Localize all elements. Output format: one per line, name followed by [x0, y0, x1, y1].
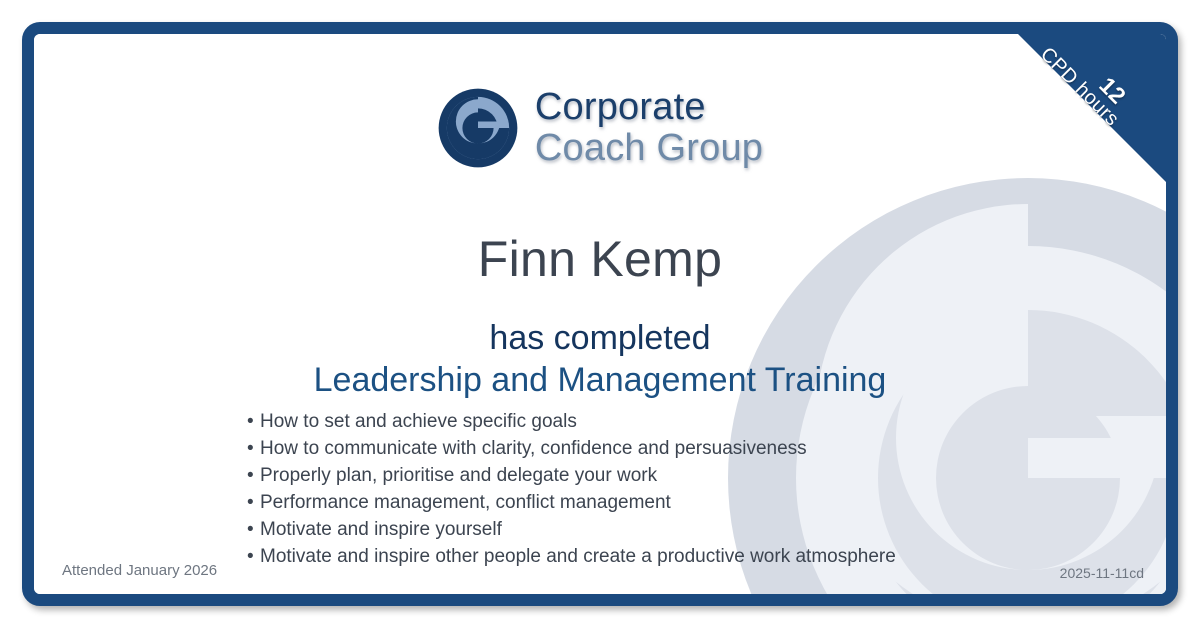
- recipient-name: Finn Kemp: [34, 230, 1166, 288]
- list-item-label: How to set and achieve specific goals: [260, 411, 577, 432]
- attendance-date: Attended January 2026: [62, 562, 217, 579]
- bullet-icon: •: [247, 435, 260, 462]
- list-item-label: Performance management, conflict managem…: [260, 492, 671, 513]
- brand-logo: Corporate Coach Group: [34, 87, 1166, 169]
- list-item: •Motivate and inspire yourself: [247, 516, 896, 543]
- bullet-icon: •: [247, 543, 260, 570]
- bullet-icon: •: [247, 489, 260, 516]
- corporate-coach-group-logo-icon: [437, 87, 519, 169]
- list-item: •Performance management, conflict manage…: [247, 489, 896, 516]
- brand-name-line-1: Corporate: [535, 89, 763, 126]
- certificate-body: 12 CPD hours Corporate Coach Group: [34, 34, 1166, 594]
- list-item-label: Motivate and inspire yourself: [260, 519, 502, 540]
- list-item: •Properly plan, prioritise and delegate …: [247, 462, 896, 489]
- list-item: •How to set and achieve specific goals: [247, 408, 896, 435]
- certificate-card: 12 CPD hours Corporate Coach Group: [22, 22, 1178, 606]
- certificate-reference: 2025-11-11cd: [1060, 565, 1144, 581]
- bullet-icon: •: [247, 516, 260, 543]
- list-item: •How to communicate with clarity, confid…: [247, 435, 896, 462]
- course-title: Leadership and Management Training: [34, 361, 1166, 400]
- list-item-label: How to communicate with clarity, confide…: [260, 438, 807, 459]
- list-item-label: Motivate and inspire other people and cr…: [260, 546, 896, 567]
- bullet-icon: •: [247, 462, 260, 489]
- list-item-label: Properly plan, prioritise and delegate y…: [260, 465, 657, 486]
- bullet-icon: •: [247, 408, 260, 435]
- brand-name-line-2: Coach Group: [535, 130, 763, 167]
- learning-outcomes-list: •How to set and achieve specific goals •…: [247, 408, 896, 570]
- brand-wordmark: Corporate Coach Group: [535, 89, 763, 167]
- completion-text: has completed: [34, 319, 1166, 358]
- list-item: •Motivate and inspire other people and c…: [247, 543, 896, 570]
